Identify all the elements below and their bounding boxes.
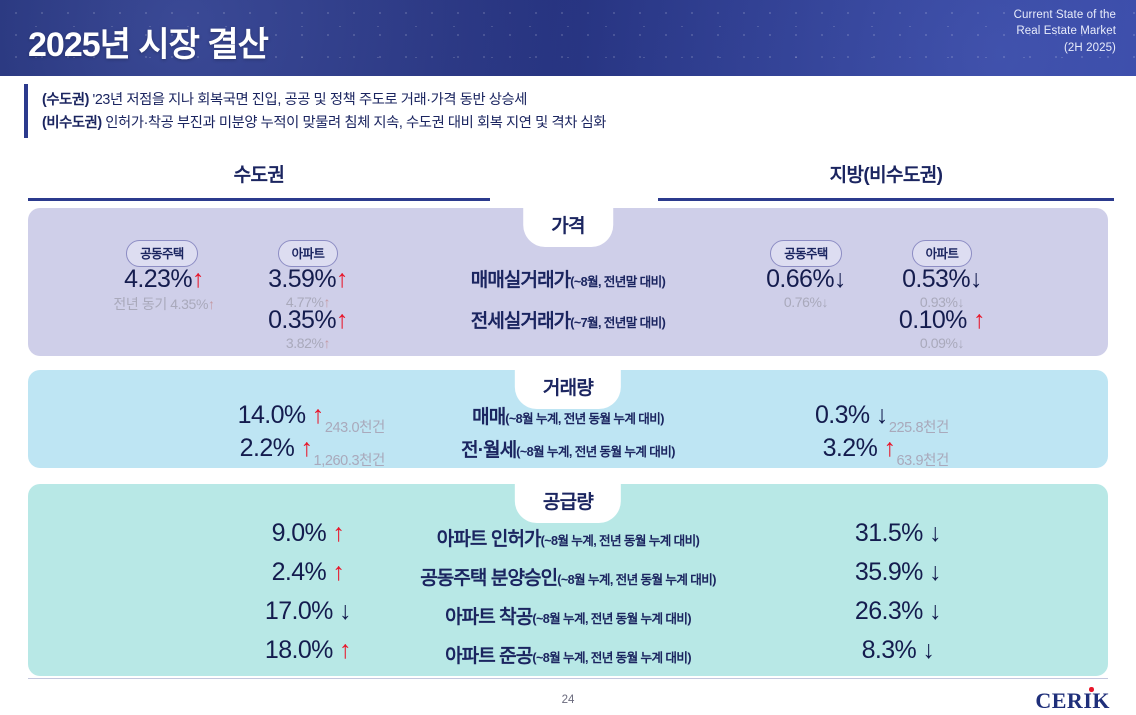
price-row-label-sale-note: (~8월, 전년말 대비) [570,275,665,289]
supply-left-pct-row1: 9.0% [272,519,327,547]
arrow-down-icon: ↓ [876,401,888,429]
footer-divider [28,678,1108,679]
arrow-down-icon: ↓ [929,519,941,547]
price-right-multihousing-pct: 0.66% [766,265,834,293]
arrow-up-icon: ↑ [336,265,348,293]
price-row-label-jeonse-name: 전세실거래가 [471,311,570,332]
arrow-down-icon: ↓ [929,558,941,586]
supply-row-label-row1-note: (~8월 누계, 전년 동월 누계 대비) [541,534,700,548]
price-right-apartment-sale-pct: 0.53% [902,265,970,293]
arrow-down-icon: ↓ [929,597,941,625]
price-right-apartment-jeonse-value: 0.10% ↑ [884,306,1000,335]
supply-row-label-row1-name: 아파트 인허가 [437,529,541,550]
summary-line-2-text: 인허가·착공 부진과 미분양 누적이 맞물려 침체 지속, 수도권 대비 회복 … [102,115,606,131]
cerik-logo: CERIK [1035,688,1110,714]
price-left-apartment-sale-pct: 3.59% [268,265,336,293]
region-header-capital: 수도권 [28,160,490,201]
english-subtitle-line3: (2H 2025) [1014,40,1116,56]
summary-callout: (수도권) '23년 저점을 지나 회복국면 진입, 공공 및 정책 주도로 거… [24,84,1114,138]
price-section-panel: 가격 공동주택 4.23%↑ 전년 동기 4.35%↑ 아파트 3.59%↑ 4… [28,208,1108,356]
region-header-capital-label: 수도권 [28,160,490,187]
volume-right-sale-pct: 0.3% [815,401,870,429]
arrow-up-icon: ↑ [312,401,324,429]
supply-right-value-row2: 35.9% ↓ [768,558,1028,587]
volume-right-rent-sub: 63.9천건 [896,449,949,470]
supply-section-panel: 공급량 9.0% ↑ 아파트 인허가(~8월 누계, 전년 동월 누계 대비) … [28,484,1108,676]
arrow-up-icon: ↑ [333,558,345,586]
supply-row-label-row3: 아파트 착공(~8월 누계, 전년 동월 누계 대비) [388,602,748,629]
volume-left-rent-sub: 1,260.3천건 [314,449,385,470]
supply-row-label-row3-note: (~8월 누계, 전년 동월 누계 대비) [532,612,691,626]
volume-row-label-rent: 전·월세(~8월 누계, 전년 동월 누계 대비) [398,435,738,462]
summary-line-1-tag: (수도권) [42,92,89,108]
price-row-label-sale-name: 매매실거래가 [471,270,570,291]
supply-right-pct-row4: 8.3% [862,636,917,664]
price-left-multihousing-sub: 전년 동기 4.35%↑ [66,294,262,314]
page-title: 2025년 시장 결산 [28,17,268,66]
pill-apartment-right: 아파트 [912,240,973,267]
arrow-down-icon-small: ↓ [822,294,829,310]
supply-right-value-row4: 8.3% ↓ [768,636,1028,665]
english-subtitle: Current State of the Real Estate Market … [1014,7,1116,56]
arrow-down-icon: ↓ [834,265,846,293]
price-left-apartment-jeonse-pct: 0.35% [268,306,336,334]
supply-row-label-row4-note: (~8월 누계, 전년 동월 누계 대비) [532,651,691,665]
divider [658,198,1114,201]
supply-right-value-row1: 31.5% ↓ [768,519,1028,548]
price-left-apartment-jeonse-sub: 3.82%↑ [250,335,366,353]
price-left-apartment-pill-wrap: 아파트 [260,240,356,267]
volume-right-rent-pct: 3.2% [823,434,878,462]
volume-row-label-sale-name: 매매 [472,407,505,428]
arrow-up-icon: ↑ [333,519,345,547]
price-left-multihousing-pill-wrap: 공동주택 [102,240,222,267]
supply-left-pct-row4: 18.0% [265,636,333,664]
summary-line-2-tag: (비수도권) [42,115,102,131]
volume-left-sale-pct: 14.0% [238,401,306,429]
supply-right-pct-row2: 35.9% [855,558,923,586]
english-subtitle-line2: Real Estate Market [1014,23,1116,39]
volume-section-panel: 거래량 14.0% ↑243.0천건 2.2% ↑1,260.3천건 매매(~8… [28,370,1108,468]
cerik-logo-text: CERIK [1035,688,1110,713]
price-section-badge: 가격 [523,208,613,247]
supply-row-label-row3-name: 아파트 착공 [445,607,532,628]
price-right-apartment-jeonse-sub: 0.09%↓ [884,335,1000,353]
price-left-multihousing-pct: 4.23% [124,265,192,293]
price-left-multihousing-sub-text: 전년 동기 4.35% [113,296,208,312]
arrow-up-icon-small: ↑ [208,296,215,312]
arrow-up-icon-small: ↑ [324,335,331,351]
volume-right-rent: 3.2% ↑63.9천건 [788,434,948,463]
volume-row-label-rent-name: 전·월세 [461,440,516,461]
price-row-label-sale: 매매실거래가(~8월, 전년말 대비) [398,265,738,292]
arrow-down-icon: ↓ [923,636,935,664]
price-right-multihousing-value: 0.66%↓ [736,265,876,294]
price-right-multihousing-sub: 0.76%↓ [736,294,876,312]
price-right-multihousing-sub-text: 0.76% [784,294,822,310]
volume-row-label-sale-note: (~8월 누계, 전년 동월 누계 대비) [505,412,664,426]
pill-apartment-left: 아파트 [278,240,339,267]
english-subtitle-line1: Current State of the [1014,7,1116,23]
price-right-apartment-pill-wrap: 아파트 [894,240,990,267]
price-right-apartment-jeonse-pct: 0.10% [899,306,967,334]
volume-right-sale: 0.3% ↓225.8천건 [788,401,948,430]
supply-section-badge: 공급량 [515,484,621,523]
price-row-label-jeonse-note: (~7월, 전년말 대비) [570,316,665,330]
arrow-down-icon-small: ↓ [958,335,965,351]
price-left-multihousing-value: 4.23%↑ [76,265,252,294]
price-left-apartment-sale-value: 3.59%↑ [250,265,366,294]
arrow-up-icon: ↑ [301,434,313,462]
pill-multihousing-right: 공동주택 [770,240,842,267]
supply-row-label-row4: 아파트 준공(~8월 누계, 전년 동월 누계 대비) [388,641,748,668]
price-row-label-jeonse: 전세실거래가(~7월, 전년말 대비) [398,306,738,333]
volume-left-rent-pct: 2.2% [240,434,295,462]
price-right-multihousing-pill-wrap: 공동주택 [746,240,866,267]
arrow-down-icon: ↓ [339,597,351,625]
supply-row-label-row2-note: (~8월 누계, 전년 동월 누계 대비) [557,573,716,587]
supply-left-pct-row3: 17.0% [265,597,333,625]
volume-row-label-rent-note: (~8월 누계, 전년 동월 누계 대비) [516,445,675,459]
supply-row-label-row2: 공동주택 분양승인(~8월 누계, 전년 동월 누계 대비) [388,563,748,590]
summary-line-1-text: '23년 저점을 지나 회복국면 진입, 공공 및 정책 주도로 거래·가격 동… [89,92,527,108]
volume-left-rent: 2.2% ↑1,260.3천건 [224,434,384,463]
logo-dot-icon [1089,687,1094,692]
slide-header: 2025년 시장 결산 Current State of the Real Es… [0,0,1136,76]
supply-right-pct-row1: 31.5% [855,519,923,547]
pill-multihousing-left: 공동주택 [126,240,198,267]
region-header-provincial-label: 지방(비수도권) [658,160,1114,187]
price-left-apartment-jeonse-sub-text: 3.82% [286,335,324,351]
arrow-up-icon: ↑ [192,265,204,293]
arrow-up-icon: ↑ [973,306,985,334]
summary-line-1: (수도권) '23년 저점을 지나 회복국면 진입, 공공 및 정책 주도로 거… [42,89,1114,112]
slide: 2025년 시장 결산 Current State of the Real Es… [0,0,1136,715]
page-number: 24 [0,694,1136,706]
supply-row-label-row1: 아파트 인허가(~8월 누계, 전년 동월 누계 대비) [388,524,748,551]
supply-right-value-row3: 26.3% ↓ [768,597,1028,626]
volume-left-sale: 14.0% ↑243.0천건 [224,401,384,430]
supply-row-label-row4-name: 아파트 준공 [445,646,532,667]
arrow-up-icon: ↑ [336,306,348,334]
volume-section-badge: 거래량 [515,370,621,409]
summary-line-2: (비수도권) 인허가·착공 부진과 미분양 누적이 맞물려 침체 지속, 수도권… [42,112,1114,135]
price-left-apartment-jeonse-value: 0.35%↑ [250,306,366,335]
arrow-down-icon: ↓ [970,265,982,293]
price-right-apartment-jeonse-sub-text: 0.09% [920,335,958,351]
supply-row-label-row2-name: 공동주택 분양승인 [420,568,557,589]
divider [28,198,490,201]
arrow-up-icon: ↑ [339,636,351,664]
region-header-provincial: 지방(비수도권) [658,160,1114,201]
arrow-up-icon: ↑ [884,434,896,462]
price-right-apartment-sale-value: 0.53%↓ [884,265,1000,294]
supply-right-pct-row3: 26.3% [855,597,923,625]
supply-left-pct-row2: 2.4% [272,558,327,586]
